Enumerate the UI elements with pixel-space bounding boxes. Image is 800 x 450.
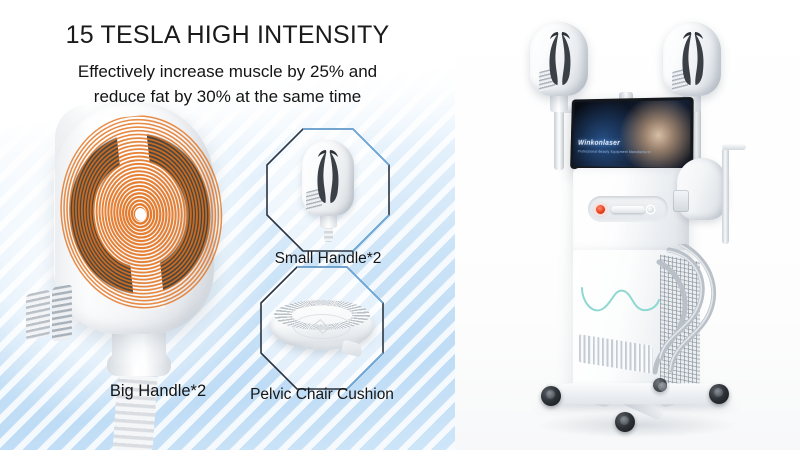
- accessory-card-small-handle: Small Handle*2: [266, 128, 390, 252]
- subheadline-line-1: Effectively increase muscle by 25% and: [0, 60, 455, 85]
- big-handle-vent-left: [26, 289, 50, 340]
- ems-machine-illustration: Winkonlaser Professional Beauty Equipmen…: [455, 0, 800, 450]
- machine-touchscreen[interactable]: Winkonlaser Professional Beauty Equipmen…: [570, 97, 694, 172]
- right-background-panel: Winkonlaser Professional Beauty Equipmen…: [455, 0, 800, 450]
- applicator-leaf-pattern-icon: [678, 31, 708, 87]
- screen-brand-tagline: Professional Beauty Equipment Manufactur…: [578, 150, 651, 155]
- applicator-leaf-pattern-icon: [545, 31, 575, 87]
- small-handle-icon: [296, 140, 358, 240]
- wave-graphic-icon: [579, 282, 661, 322]
- caster-wheel: [653, 378, 667, 392]
- caster-wheel: [615, 412, 635, 432]
- caster-wheel: [541, 386, 561, 406]
- base-star-plate: [544, 383, 728, 404]
- adjust-knob[interactable]: [611, 206, 645, 213]
- status-indicator: [647, 206, 654, 213]
- screen-display-content: Winkonlaser Professional Beauty Equipmen…: [573, 100, 691, 168]
- applicator-holster: [677, 158, 733, 224]
- holster-rail-top: [722, 144, 746, 150]
- power-button[interactable]: [596, 205, 605, 214]
- accessory-label-pelvic-cushion: Pelvic Chair Cushion: [216, 386, 428, 404]
- small-handle-cable: [324, 226, 333, 242]
- machine-base: [541, 372, 731, 434]
- caster-wheel: [709, 384, 729, 404]
- applicator-head-right: [663, 22, 721, 96]
- holster-clip: [673, 190, 689, 212]
- accessory-card-pelvic-cushion: Pelvic Chair Cushion: [260, 266, 384, 390]
- big-handle-coil-icon: [48, 108, 232, 320]
- applicator-head-left: [530, 22, 588, 96]
- product-banner: 15 TESLA HIGH INTENSITY Effectively incr…: [0, 0, 800, 450]
- headline: 15 TESLA HIGH INTENSITY: [0, 22, 455, 50]
- holster-rail: [722, 148, 729, 244]
- small-handle-leaf-pattern-icon: [313, 149, 343, 205]
- screen-brand-logo: Winkonlaser: [578, 140, 620, 147]
- pelvic-cushion-icon: [270, 296, 374, 358]
